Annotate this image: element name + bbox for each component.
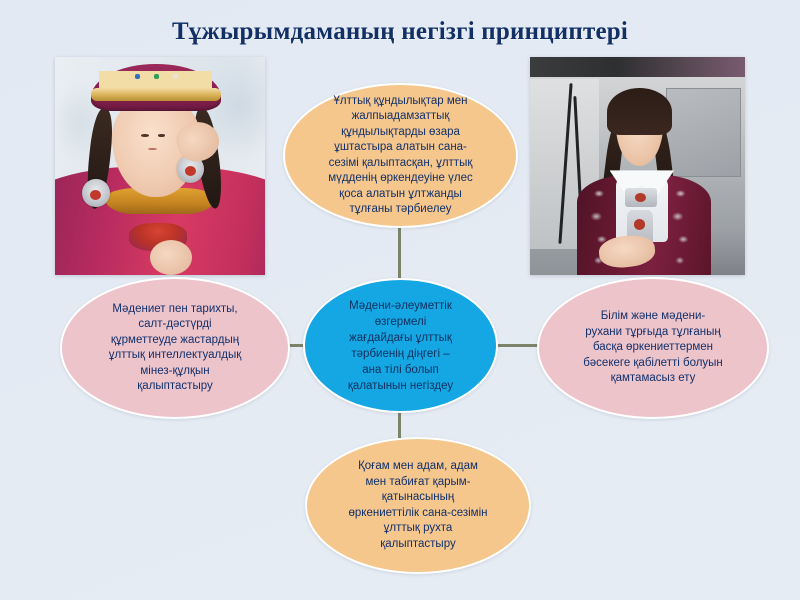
photo-right-brooch xyxy=(625,188,657,208)
photo-right-top-band xyxy=(530,57,745,77)
diagram-node-top-label: Ұлттық құндылықтар мен жалпыадамзаттық қ… xyxy=(312,94,488,218)
diagram-node-center-label: Мәдени-әлеуметтік өзгермелі жағдайдағы ұ… xyxy=(332,298,469,394)
photo-left-cap-gem-green xyxy=(154,74,159,79)
photo-left-hand-lower xyxy=(150,240,192,275)
diagram-node-left[interactable]: Мәдениет пен тарихты, салт-дәстүрді құрм… xyxy=(60,277,290,419)
photo-girl-in-traditional-kazakh-cap xyxy=(55,57,265,275)
diagram-node-top[interactable]: Ұлттық құндылықтар мен жалпыадамзаттық қ… xyxy=(283,83,518,228)
photo-left-content xyxy=(55,57,265,275)
photo-right-content xyxy=(530,57,745,275)
photo-girl-presenting-in-embroidered-dress xyxy=(530,57,745,275)
photo-right-whiteboard xyxy=(666,88,741,177)
diagram-node-right-label: Білім және мәдени- рухани тұрғыда тұлған… xyxy=(567,309,739,387)
diagram-node-left-label: Мәдениет пен тарихты, салт-дәстүрді құрм… xyxy=(93,302,258,395)
diagram-node-bottom[interactable]: Қоғам мен адам, адам мен табиғат қарым- … xyxy=(305,437,531,574)
diagram-node-bottom-label: Қоғам мен адам, адам мен табиғат қарым- … xyxy=(333,459,504,552)
page-title: Тұжырымдаманың негізгі принциптері xyxy=(0,18,800,46)
photo-left-pendant-left xyxy=(82,179,109,207)
connector-center-to-top xyxy=(398,226,401,280)
connector-center-to-bottom xyxy=(398,410,401,440)
photo-left-cap-band xyxy=(91,88,221,101)
photo-right-hair xyxy=(607,88,672,136)
diagram-node-right[interactable]: Білім және мәдени- рухани тұрғыда тұлған… xyxy=(537,277,769,419)
photo-right-embroidery-right xyxy=(663,183,697,270)
photo-left-cap-gem-white xyxy=(173,74,178,79)
connector-center-to-right xyxy=(493,344,541,347)
slide-canvas: Тұжырымдаманың негізгі принциптері xyxy=(0,0,800,600)
photo-left-mouth xyxy=(148,148,157,150)
photo-left-eye-left xyxy=(141,134,149,136)
photo-left-cap-gem-blue xyxy=(135,74,140,79)
photo-left-eye-right xyxy=(158,134,166,136)
diagram-node-center[interactable]: Мәдени-әлеуметтік өзгермелі жағдайдағы ұ… xyxy=(303,278,498,413)
